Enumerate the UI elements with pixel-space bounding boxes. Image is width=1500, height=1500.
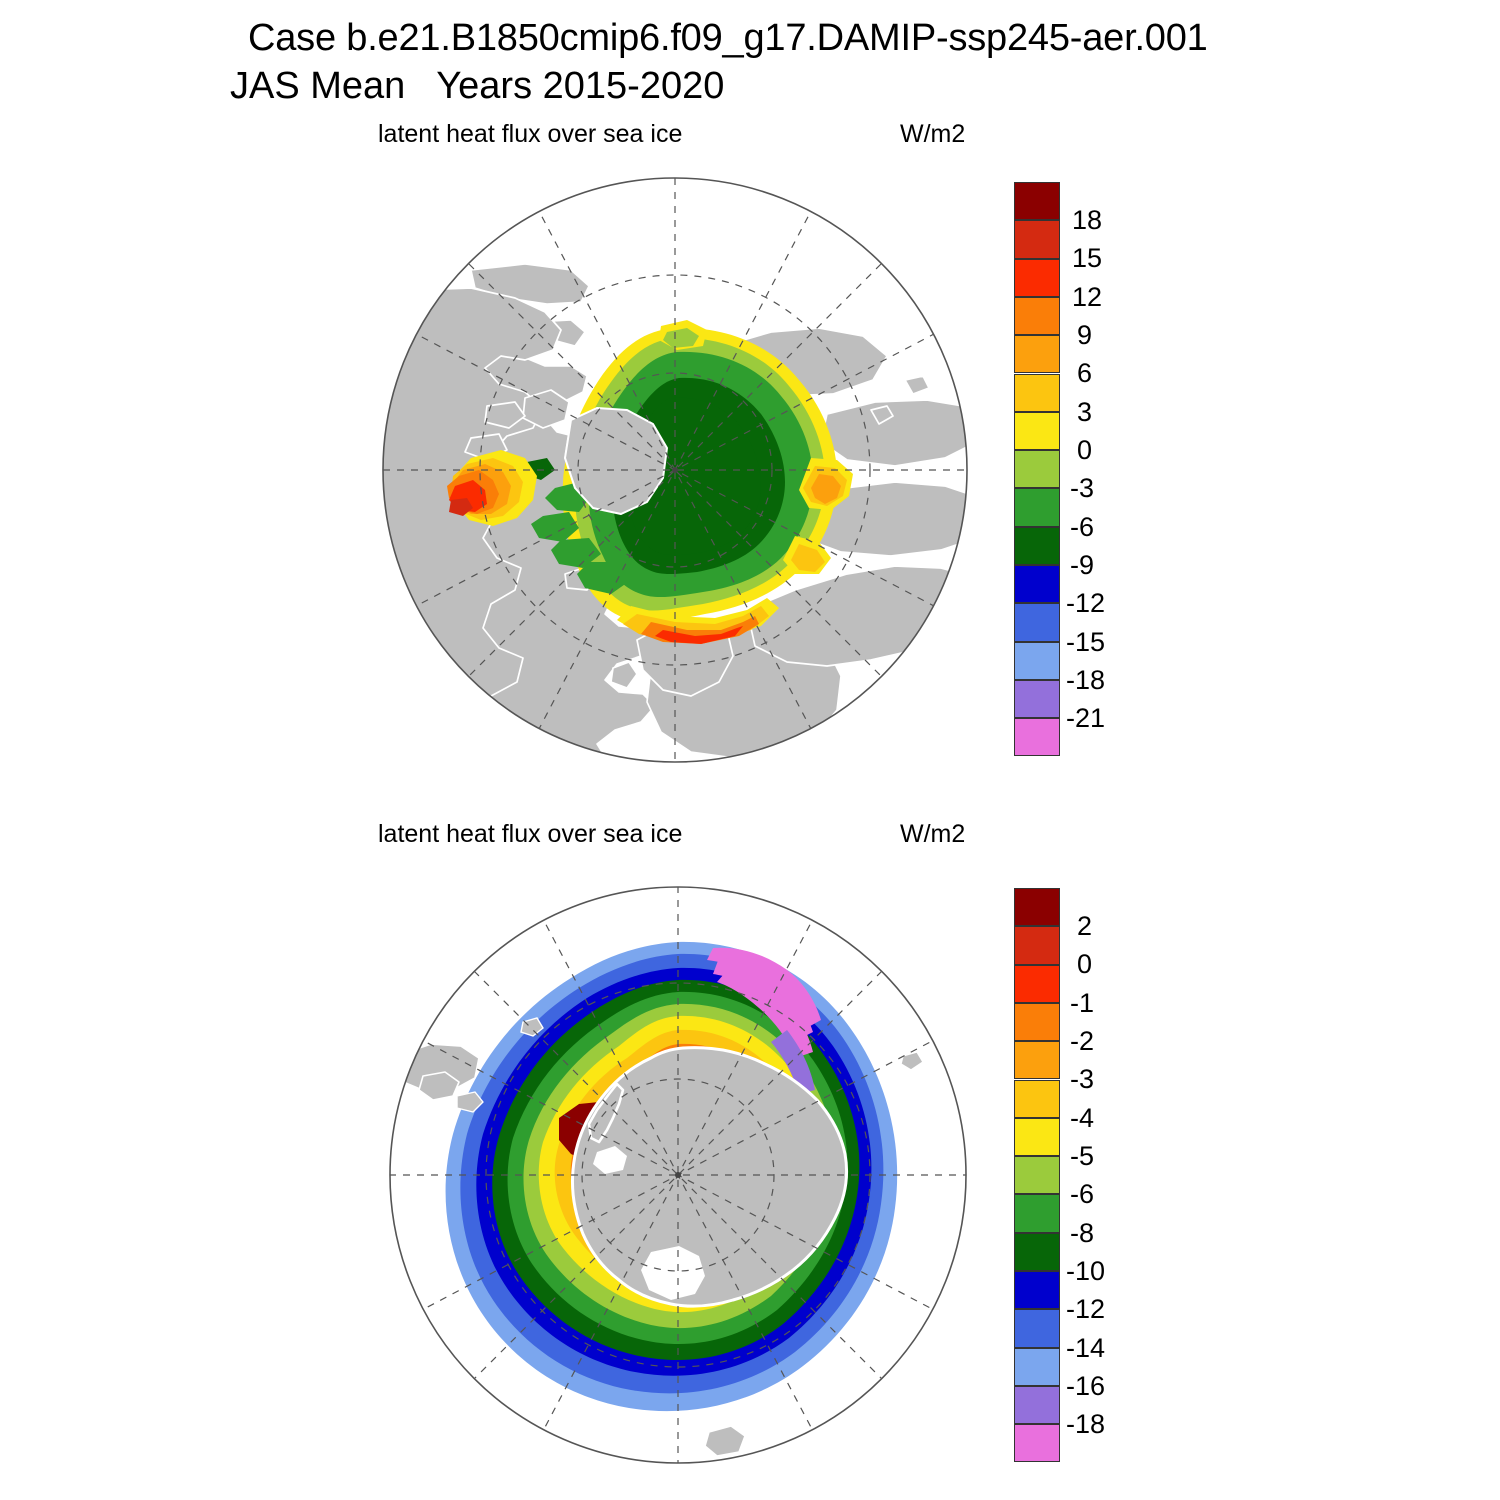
- figure-page: Case b.e21.B1850cmip6.f09_g17.DAMIP-ssp2…: [0, 0, 1500, 1500]
- colorbar-band: [1014, 926, 1060, 964]
- colorbar-tick-label: -10: [1066, 1256, 1105, 1287]
- antarctic-units-label: W/m2: [900, 820, 965, 849]
- colorbar-tick-label: -14: [1066, 1333, 1105, 1364]
- colorbar-tick-label: -2: [1070, 1026, 1094, 1057]
- antarctic-variable-label: latent heat flux over sea ice: [378, 820, 682, 849]
- colorbar-band: [1014, 1156, 1060, 1194]
- antarctic-map: [383, 880, 973, 1470]
- colorbar-band: [1014, 1003, 1060, 1041]
- colorbar-band: [1014, 1080, 1060, 1118]
- antarctic-colorbar: [1014, 888, 1060, 1462]
- colorbar-tick-label: -5: [1070, 1141, 1094, 1172]
- colorbar-band: [1014, 1041, 1060, 1079]
- colorbar-tick-label: -18: [1066, 1409, 1105, 1440]
- colorbar-band: [1014, 1386, 1060, 1424]
- colorbar-band: [1014, 1194, 1060, 1232]
- colorbar-band: [1014, 1348, 1060, 1386]
- colorbar-band: [1014, 888, 1060, 926]
- colorbar-band: [1014, 1271, 1060, 1309]
- colorbar-tick-label: -16: [1066, 1371, 1105, 1402]
- colorbar-band: [1014, 1309, 1060, 1347]
- colorbar-tick-label: -1: [1070, 988, 1094, 1019]
- colorbar-band: [1014, 1424, 1060, 1462]
- colorbar-band: [1014, 1118, 1060, 1156]
- colorbar-tick-label: 0: [1077, 949, 1092, 980]
- colorbar-tick-label: 2: [1077, 911, 1092, 942]
- colorbar-tick-label: -12: [1066, 1294, 1105, 1325]
- colorbar-tick-label: -3: [1070, 1064, 1094, 1095]
- colorbar-band: [1014, 965, 1060, 1003]
- colorbar-tick-label: -6: [1070, 1179, 1094, 1210]
- panel-antarctic: latent heat flux over sea ice W/m2: [0, 0, 1500, 1500]
- colorbar-tick-label: -8: [1070, 1218, 1094, 1249]
- colorbar-tick-label: -4: [1070, 1103, 1094, 1134]
- colorbar-band: [1014, 1233, 1060, 1271]
